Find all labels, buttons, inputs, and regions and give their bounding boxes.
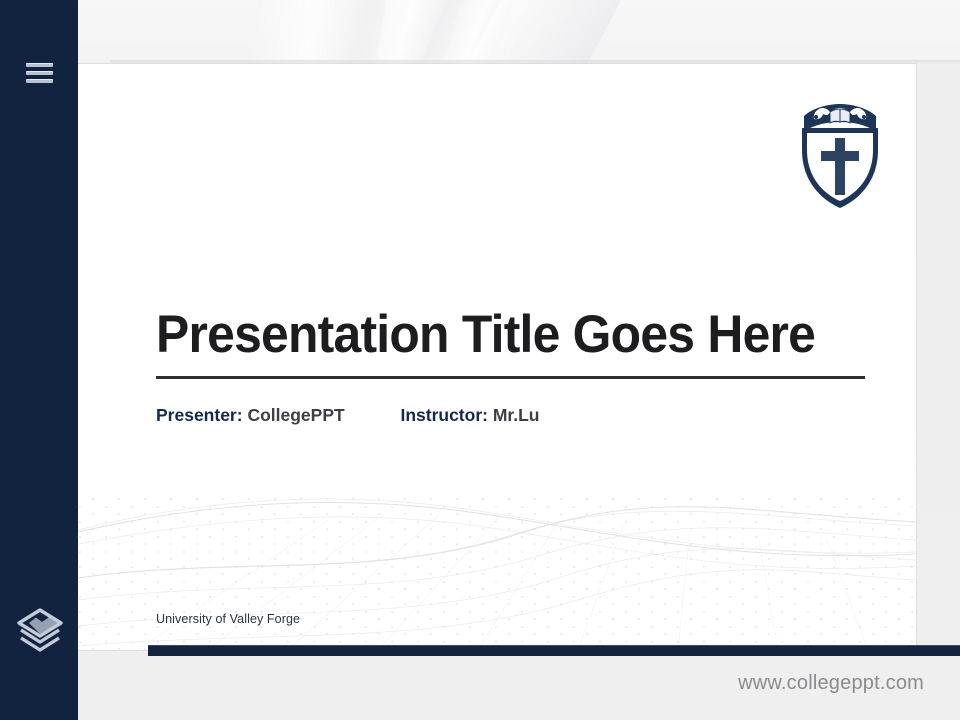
slide-viewer: Presentation Title Goes Here Presenter: … [0, 0, 960, 720]
site-watermark: www.collegeppt.com [738, 672, 924, 695]
hamburger-menu-icon[interactable] [26, 63, 53, 86]
stacked-layers-logo-icon[interactable] [14, 604, 66, 656]
hamburger-bar [26, 79, 53, 83]
slide-canvas: Presentation Title Goes Here Presenter: … [78, 64, 916, 650]
slide-bottom-accent-bar [148, 645, 960, 656]
presenter-value: CollegePPT [247, 405, 344, 425]
presenter-label: Presenter: [156, 405, 243, 425]
university-shield-crest-icon [792, 100, 888, 210]
slide-footer-text: University of Valley Forge [156, 612, 300, 626]
hamburger-bar [26, 63, 53, 67]
left-sidebar-rail [0, 0, 78, 720]
presenter-meta-line: Presenter: CollegePPT Instructor: Mr.Lu [156, 405, 540, 426]
title-underline-rule [156, 376, 865, 379]
page-title: Presentation Title Goes Here [156, 307, 829, 363]
hamburger-bar [26, 71, 53, 75]
instructor-label: Instructor: [400, 405, 488, 425]
instructor-value: Mr.Lu [493, 405, 540, 425]
